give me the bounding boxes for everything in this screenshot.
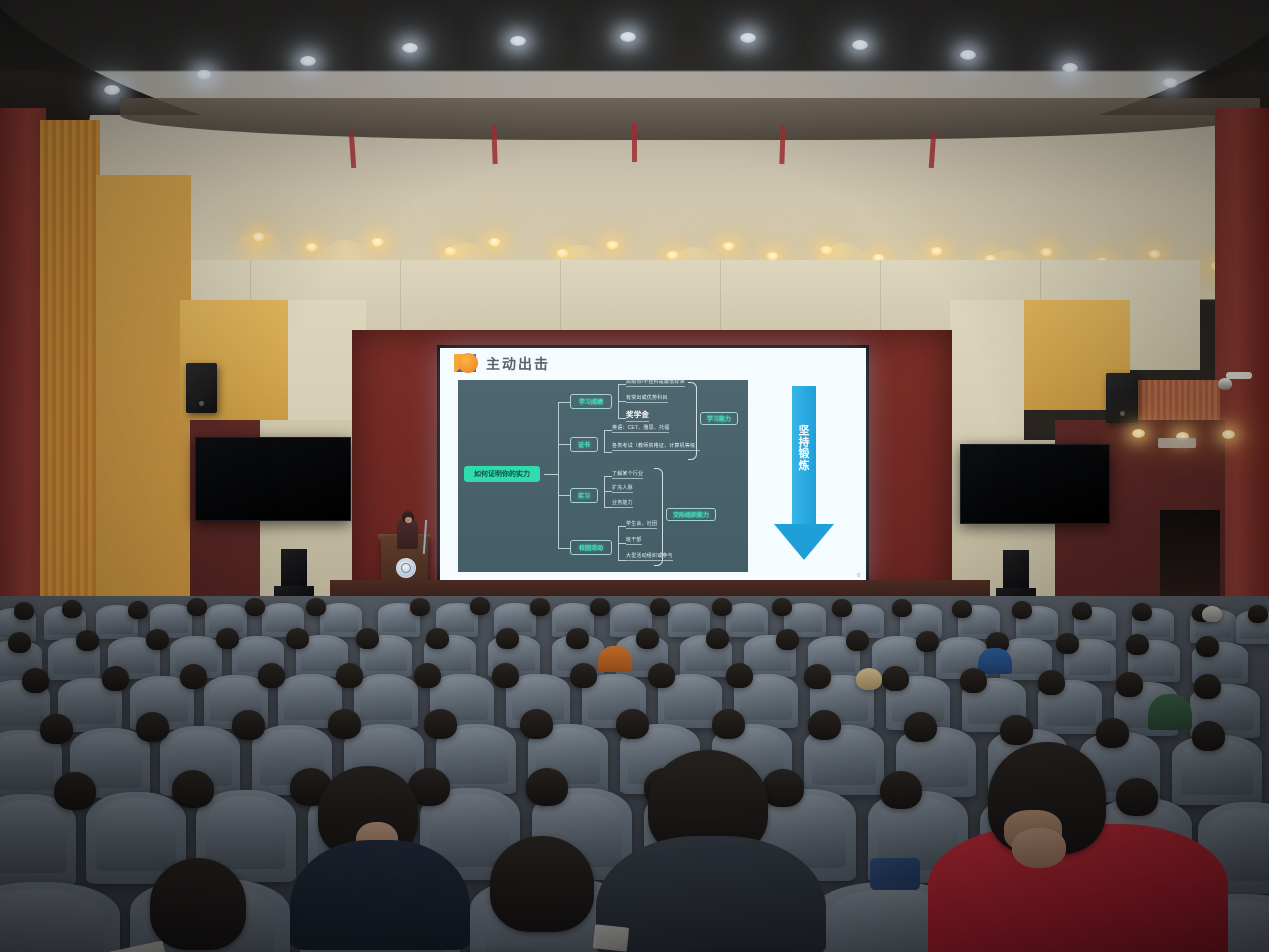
persistence-arrow: 坚持锻炼 [758,382,858,572]
audience-head [76,630,99,651]
display-panel-left [195,437,351,521]
mindmap-leaf: 班干部 [626,536,642,545]
mindmap-connector [618,384,626,385]
audience-head [712,709,745,739]
audience-head [520,709,553,739]
spotlight-icon [305,243,318,252]
security-camera-mount [1226,372,1252,379]
mindmap-connector [618,401,626,402]
audience-head [216,628,239,649]
ceiling-soffit-edge [120,98,1260,140]
audience-head [846,630,869,651]
audience-head [916,631,939,652]
projection-screen: 主动出击 如何证明你的实力 学习成绩 高绩点/不挂科是最低标准 [440,348,866,582]
audience-head [1072,602,1092,620]
mindmap-leaf: 有突出或优势科目 [626,394,668,403]
audience-head [892,599,912,617]
downlight-icon [960,50,976,60]
wall-speaker-left [186,363,217,413]
mindmap-connector [558,444,570,445]
audience-head [706,628,729,649]
audience-head [1132,603,1152,621]
audience-head [1000,715,1033,745]
downlight-icon [402,43,418,53]
audience-head [232,710,265,740]
mindmap-connector [604,452,612,453]
presenter-body [397,519,418,549]
audience-shoulder-foreground [290,840,470,950]
downlight-icon [1162,78,1178,88]
audience-head [1012,601,1032,619]
ceiling-accent-stripe [632,124,637,162]
spotlight-icon [930,247,943,256]
audience-head [22,668,49,693]
downlight-icon [1062,63,1078,73]
light-housing [1158,438,1196,448]
slide-title: 主动出击 [486,354,550,374]
floor-speaker-left [281,549,307,591]
mindmap-group-label: 交际组织能力 [666,508,716,521]
spotlight-icon [252,233,265,242]
audience-head [62,600,82,618]
audience-head [590,598,610,616]
mindmap-leaf: 业务能力 [612,499,633,508]
downlight-icon [740,33,756,43]
audience-head [832,599,852,617]
presentation-slide: 主动出击 如何证明你的实力 学习成绩 高绩点/不挂科是最低标准 [440,348,866,582]
audience-head [328,709,361,739]
audience-head [526,768,568,806]
audience-head [102,666,129,691]
mindmap-group-brace [654,468,663,566]
audience-hand [1012,828,1066,868]
downlight-icon [196,70,212,80]
audience-head [492,663,519,688]
audience-head [804,664,831,689]
mindmap-connector [618,560,626,561]
left-wall-gold-panel [96,175,191,625]
floor-speaker-right [1003,550,1029,592]
audience-head-cap [1202,606,1222,622]
audience-head [1116,778,1158,816]
slide-header: 主动出击 [440,348,866,378]
audience-shoulder-foreground [596,836,826,952]
mindmap-branch-node: 证书 [570,437,598,452]
audience-head [136,712,169,742]
audience-head [8,632,31,653]
audience-head [636,628,659,649]
mindmap-connector [558,495,570,496]
mindmap-connector [604,476,612,477]
audience-head [616,709,649,739]
wall-speaker-right [1106,373,1138,423]
mindmap-connector [558,402,570,403]
audience-head [1056,633,1079,654]
audience-head-cap-tan [856,668,882,690]
audience-head [712,598,732,616]
audience-head [904,712,937,742]
audience-head [808,710,841,740]
audience-head [470,597,490,615]
spotlight-icon [606,241,619,250]
mindmap-connector [558,548,570,549]
audience-shoulder-blue [978,648,1012,674]
audience-head [882,666,909,691]
recessed-light-icon [1222,430,1235,439]
audience-head [245,598,265,616]
downlight-icon [510,36,526,46]
audience-head [306,598,326,616]
audience-head [40,714,73,744]
mindmap-leaf: 英语：CET、雅思、托福 [612,424,669,433]
mindmap-branch-node: 学习成绩 [570,394,612,409]
audience-head [356,628,379,649]
audience-head [180,664,207,689]
audience-head-foreground [490,836,594,932]
spotlight-icon [1040,248,1053,257]
audience-head [258,663,285,688]
audience-backpack [870,858,920,890]
audience-head [426,628,449,649]
audience-head [960,668,987,693]
header-circle-icon [458,353,478,373]
audience-head [1196,636,1219,657]
downlight-icon [300,56,316,66]
audience-head [650,598,670,616]
audience-shoulder-green [1148,694,1192,730]
exit-doorway[interactable] [1160,510,1220,605]
slide-page-number: 8 [857,573,860,579]
audience-paper [593,924,629,951]
auditorium-photo: 主动出击 如何证明你的实力 学习成绩 高绩点/不挂科是最低标准 [0,0,1269,952]
spotlight-icon [722,242,735,251]
mindmap-leaf: 大型活动组织或参与 [626,552,673,561]
audience-head [146,629,169,650]
audience-head-foreground [150,858,246,950]
mindmap-leaf: 了解某个行业 [612,470,643,479]
audience-head [880,771,922,809]
audience-head [1038,670,1065,695]
mindmap-connector [558,402,559,548]
audience-head [762,769,804,807]
audience-head [336,663,363,688]
audience-area [0,596,1269,952]
audience-head [1192,721,1225,751]
mindmap-connector [618,418,626,419]
mindmap-connector [604,491,612,492]
audience-head [128,601,148,619]
spotlight-icon [488,238,501,247]
seat [726,603,768,637]
mindmap-connector [604,430,612,431]
audience-head [410,598,430,616]
mindmap-connector [618,526,626,527]
audience-head [286,628,309,649]
mindmap-group-label: 学习能力 [700,412,738,425]
audience-head [1096,718,1129,748]
seat [320,603,362,637]
audience-head [1194,674,1221,699]
downlight-icon [104,85,120,95]
left-wall-wood-slats [40,120,100,640]
audience-head [772,598,792,616]
arrow-head-icon [774,524,834,560]
audience-head [1126,634,1149,655]
audience-head [54,772,96,810]
audience-head [776,629,799,650]
mindmap-group-brace [688,382,697,460]
audience-head [496,628,519,649]
seat [354,674,418,728]
mindmap-branch-node: 校园活动 [570,540,612,555]
audience-head [187,598,207,616]
mindmap-connector [544,474,558,475]
downlight-icon [620,32,636,42]
audience-head [530,598,550,616]
audience-head [952,600,972,618]
audience-head [14,602,34,620]
security-camera-icon [1218,378,1232,390]
audience-head [566,628,589,649]
mindmap-connector [604,430,605,452]
mindmap-canvas: 如何证明你的实力 学习成绩 高绩点/不挂科是最低标准 有突出或优势科目 奖学金 [458,380,748,572]
spotlight-icon [1148,250,1161,259]
recessed-light-icon [1132,429,1145,438]
mindmap-connector [618,543,626,544]
display-panel-right [960,444,1110,524]
audience-head [726,663,753,688]
spotlight-icon [371,238,384,247]
seat-foreground [0,882,120,952]
audience-head [424,709,457,739]
presenter-face [405,517,412,523]
audience-head [172,770,214,808]
mindmap-leaf: 高绩点/不挂科是最低标准 [626,378,685,387]
arrow-label: 坚持锻炼 [796,426,812,472]
audience-head [648,663,675,688]
audience-shoulder-orange [598,646,632,672]
downlight-icon [852,40,868,50]
mindmap-leaf: 扩充人脉 [612,484,633,493]
mindmap-connector [604,507,612,508]
mindmap-leaf-emphasis: 奖学金 [626,409,649,422]
mindmap-branch-node: 实习 [570,488,598,503]
audience-head [570,663,597,688]
audience-head [414,663,441,688]
audience-head [1248,605,1268,623]
podium-emblem-icon [396,558,416,578]
audience-head [1116,672,1143,697]
mindmap-root-node: 如何证明你的实力 [464,466,540,482]
mindmap-leaf: 学生会、社团 [626,520,657,529]
seat [668,603,710,637]
